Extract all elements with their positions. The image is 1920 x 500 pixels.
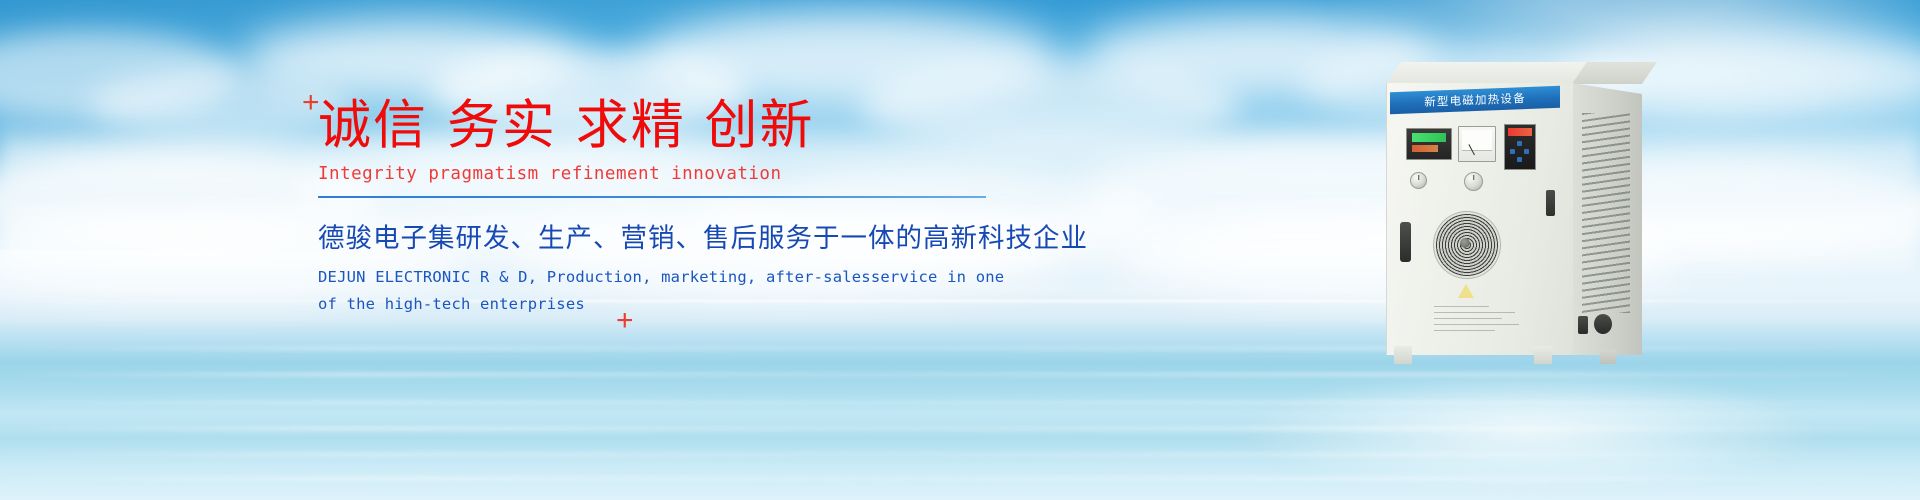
product-image-heating-machine: 新型电磁加热设备 [1386, 62, 1646, 362]
display-segment-orange [1412, 145, 1438, 152]
headline-english: Integrity pragmatism refinement innovati… [318, 164, 1038, 184]
cable-port [1594, 314, 1612, 334]
product-label-text: 新型电磁加热设备 [1424, 90, 1526, 110]
wave-line [0, 453, 1920, 456]
door-handle [1546, 190, 1555, 216]
ventilation-slots [1582, 113, 1630, 313]
keypad-button [1517, 157, 1522, 162]
keypad-button [1524, 149, 1529, 154]
wave-line [0, 427, 1920, 430]
spec-label-lines [1434, 306, 1526, 336]
analog-meter-gauge [1458, 126, 1496, 162]
wave-line [0, 477, 1920, 480]
hero-banner: + + 诚信 务实 求精 创新 Integrity pragmatism ref… [0, 0, 1920, 500]
digital-controller-display [1406, 128, 1452, 160]
control-knob [1464, 172, 1483, 191]
knob-indicator [1473, 175, 1475, 180]
subtitle-english-line-2: of the high-tech enterprises [318, 291, 1038, 318]
subtitle-english-line-1: DEJUN ELECTRONIC R & D, Production, mark… [318, 264, 1038, 291]
keypad-button [1517, 141, 1522, 146]
machine-top-side-panel [1572, 62, 1657, 84]
machine-top-panel [1386, 62, 1599, 84]
keypad-led-display [1508, 128, 1532, 136]
machine-foot [1600, 350, 1616, 364]
fan-hub [1460, 238, 1470, 248]
control-keypad-panel [1504, 124, 1536, 170]
banner-text-block: 诚信 务实 求精 创新 Integrity pragmatism refinem… [318, 96, 1038, 319]
warning-triangle-icon [1458, 284, 1474, 298]
side-black-strip [1400, 222, 1411, 262]
knob-indicator [1418, 175, 1420, 180]
machine-foot [1534, 346, 1552, 364]
divider-line [318, 196, 986, 198]
subtitle-chinese: 德骏电子集研发、生产、营销、售后服务于一体的高新科技企业 [318, 216, 1038, 255]
headline-chinese: 诚信 务实 求精 创新 [318, 96, 1038, 155]
machine-foot [1394, 346, 1412, 364]
meter-face [1462, 130, 1492, 151]
keypad-button [1510, 149, 1515, 154]
control-knob [1410, 172, 1427, 189]
wave-line [0, 373, 1920, 376]
wave-line [0, 401, 1920, 404]
plus-decoration-icon: + [302, 88, 320, 118]
power-socket [1578, 316, 1588, 334]
display-segment-green [1412, 133, 1446, 142]
